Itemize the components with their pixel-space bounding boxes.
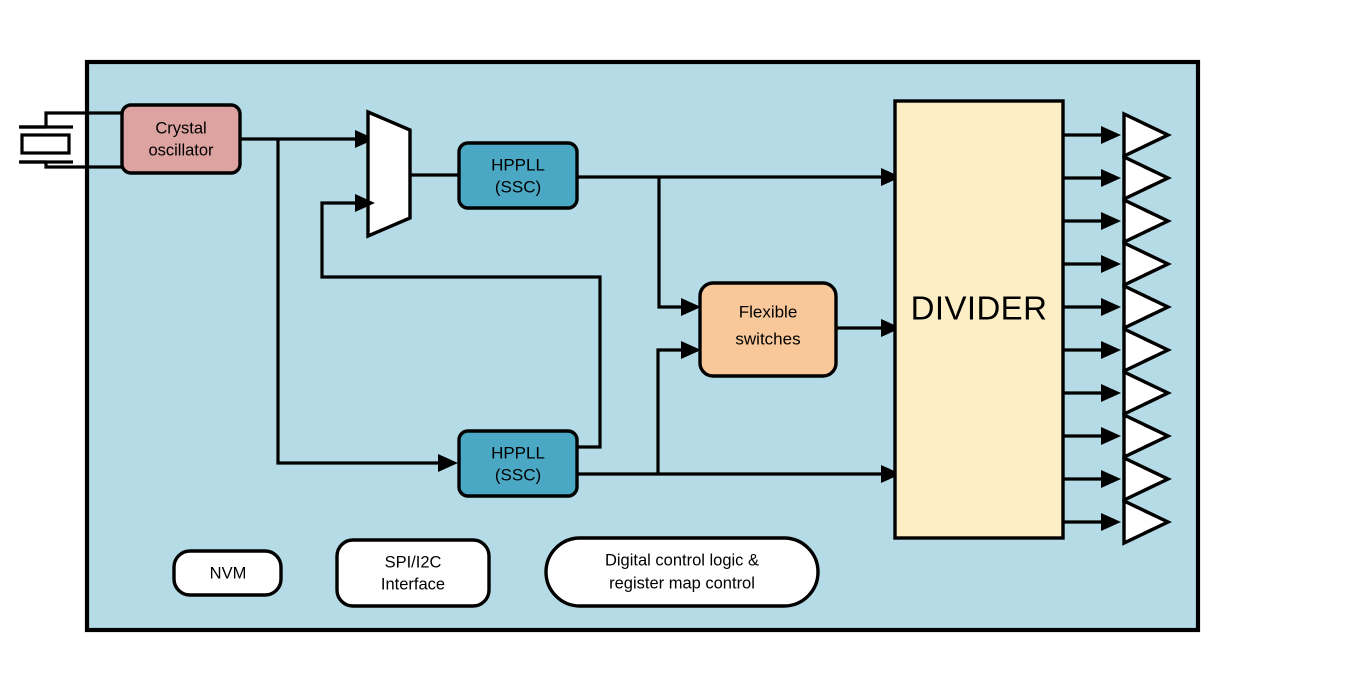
crystal-oscillator-label-line2: oscillator bbox=[148, 141, 214, 159]
digital-control-logic-label-line1: Digital control logic & bbox=[605, 551, 759, 569]
input-mux[interactable] bbox=[368, 112, 410, 236]
digital-control-logic-label-line2: register map control bbox=[609, 574, 755, 592]
hppll-bottom-shape bbox=[459, 431, 577, 496]
hppll-top-label-line1: HPPLL bbox=[491, 155, 545, 174]
flexible-switches-label-line2: switches bbox=[735, 329, 800, 348]
divider-label: DIVIDER bbox=[911, 290, 1048, 327]
spi-i2c-interface-label-line1: SPI/I2C bbox=[385, 553, 442, 571]
input-mux-shape bbox=[368, 112, 410, 236]
hppll-top-shape bbox=[459, 143, 577, 208]
nvm-block[interactable]: NVM bbox=[174, 551, 281, 595]
hppll-bottom-label-line2: (SSC) bbox=[495, 465, 541, 484]
crystal-oscillator-label-line1: Crystal bbox=[155, 119, 206, 137]
hppll-top-label-line2: (SSC) bbox=[495, 177, 541, 196]
divider-block[interactable]: DIVIDER bbox=[895, 101, 1063, 538]
spi-i2c-interface-shape bbox=[337, 540, 489, 606]
spi-i2c-interface-label-line2: Interface bbox=[381, 575, 445, 593]
flexible-switches-block[interactable]: Flexible switches bbox=[700, 283, 836, 376]
spi-i2c-interface-block[interactable]: SPI/I2C Interface bbox=[337, 540, 489, 606]
hppll-top-block[interactable]: HPPLL (SSC) bbox=[459, 143, 577, 208]
digital-control-logic-shape bbox=[546, 538, 818, 606]
nvm-label: NVM bbox=[210, 564, 247, 582]
crystal-oscillator-block[interactable]: Crystal oscillator bbox=[122, 105, 240, 173]
crystal-oscillator-shape bbox=[122, 105, 240, 173]
hppll-bottom-label-line1: HPPLL bbox=[491, 443, 545, 462]
flexible-switches-label-line1: Flexible bbox=[739, 302, 798, 321]
digital-control-logic-block[interactable]: Digital control logic & register map con… bbox=[546, 538, 818, 606]
block-diagram-root: Crystal oscillator HPPLL bbox=[0, 0, 1355, 685]
hppll-bottom-block[interactable]: HPPLL (SSC) bbox=[459, 431, 577, 496]
block-diagram-canvas: Crystal oscillator HPPLL bbox=[0, 0, 1355, 685]
